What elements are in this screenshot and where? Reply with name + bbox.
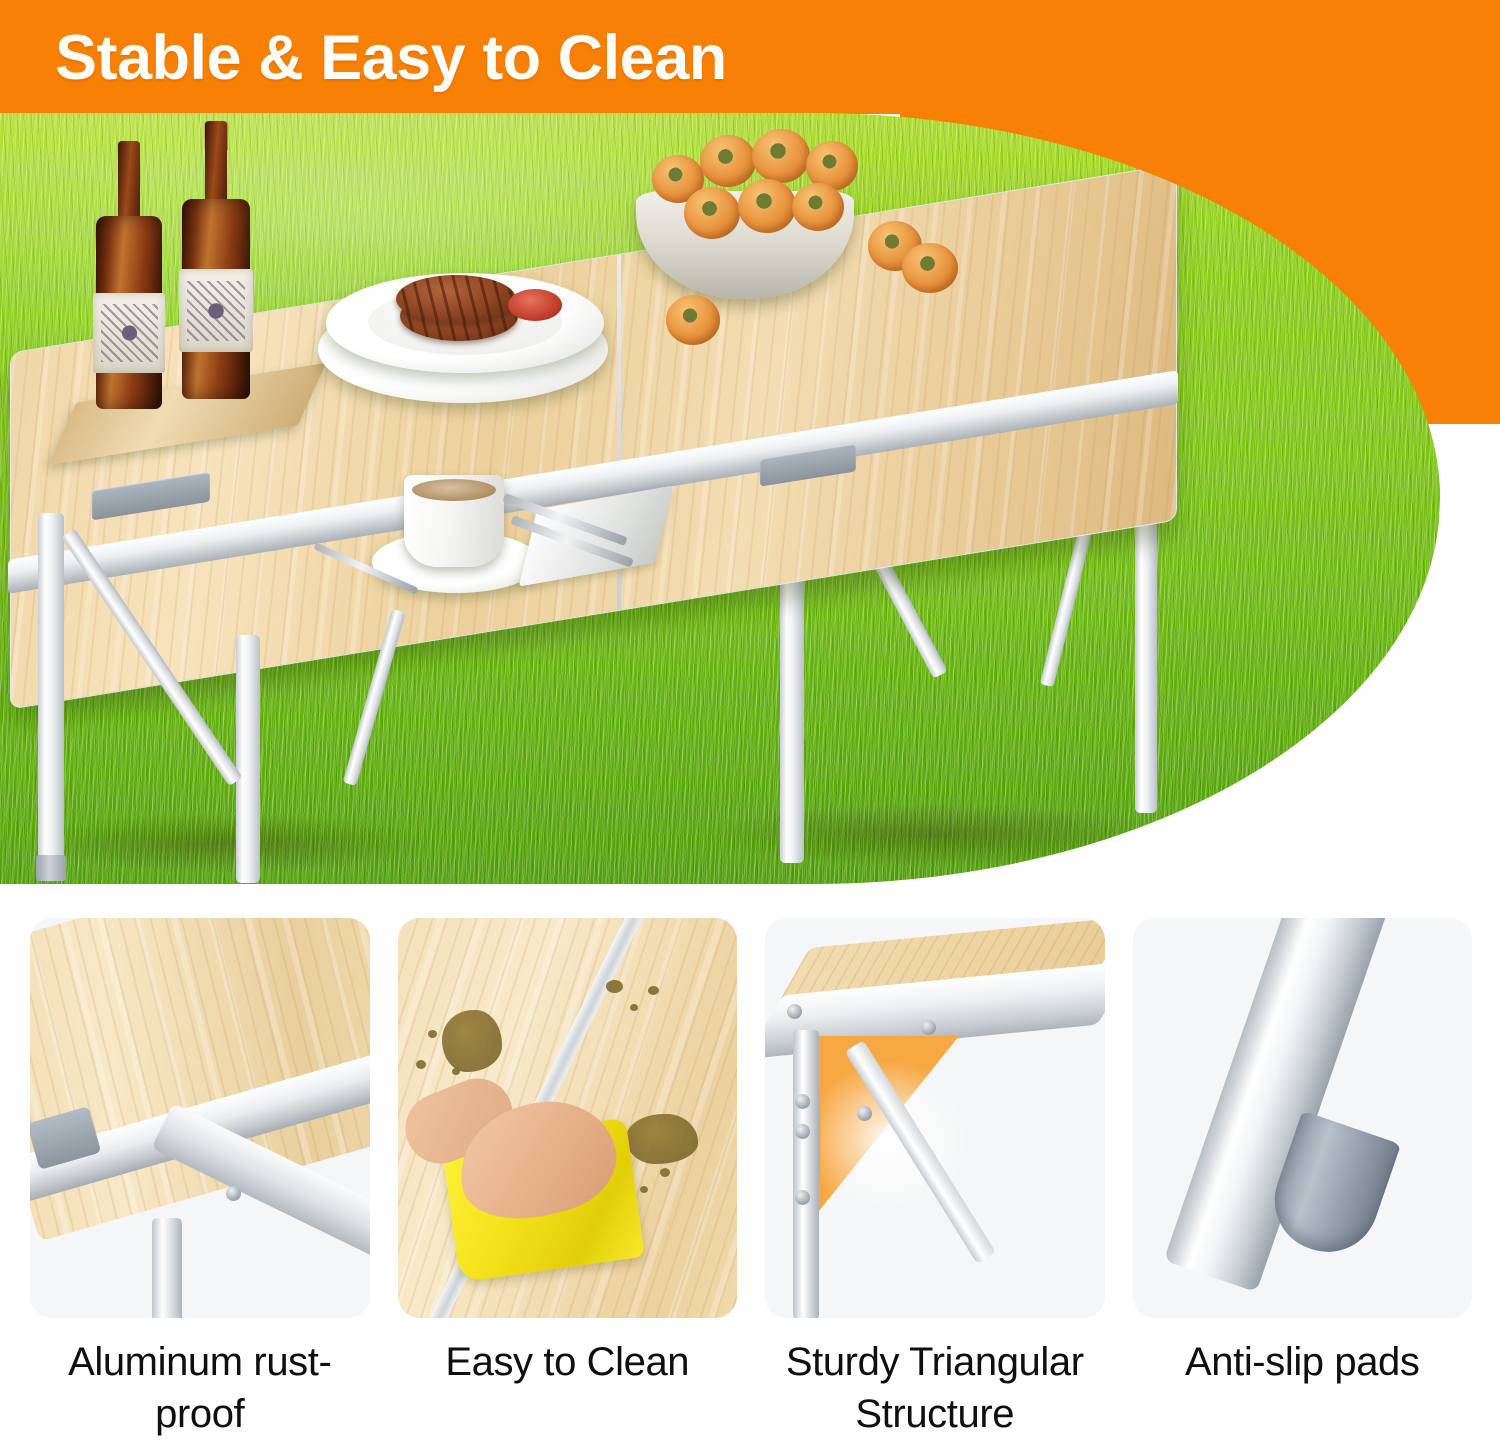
- table-leg-detail: [793, 1030, 819, 1318]
- feature-caption-row: Aluminum rust-proof Easy to Clean Sturdy…: [30, 1336, 1472, 1440]
- table-leg-detail: [152, 1218, 182, 1318]
- persimmon: [792, 183, 844, 231]
- bottle-label: [93, 293, 164, 373]
- spill-droplet: [452, 1068, 460, 1075]
- anti-slip-foot-front-left: [36, 855, 66, 881]
- rivet-icon: [795, 1124, 810, 1139]
- feature-card-easy-to-clean[interactable]: [398, 918, 738, 1318]
- folding-table: [0, 113, 1440, 884]
- persimmon: [738, 179, 796, 233]
- persimmon: [684, 187, 740, 239]
- spill-droplet: [640, 1186, 648, 1193]
- banner-title: Stable & Easy to Clean: [55, 18, 727, 98]
- caption-easy-to-clean: Easy to Clean: [398, 1336, 738, 1440]
- feature-image-sturdy-triangular-structure: [765, 918, 1105, 1318]
- persimmon-loose: [666, 295, 720, 345]
- table-ground-shadow: [700, 803, 1170, 867]
- feature-image-anti-slip-pads: [1133, 918, 1473, 1318]
- persimmon: [752, 129, 810, 183]
- feature-card-anti-slip-pads[interactable]: [1133, 918, 1473, 1318]
- screw-icon: [226, 1186, 241, 1201]
- feature-card-aluminum-rust-proof[interactable]: [30, 918, 370, 1318]
- caption-anti-slip-pads: Anti-slip pads: [1133, 1336, 1473, 1440]
- caption-aluminum-rust-proof: Aluminum rust-proof: [30, 1336, 370, 1440]
- table-ground-shadow: [20, 813, 440, 873]
- burger-patty-top: [396, 275, 516, 323]
- feature-image-easy-to-clean: [398, 918, 738, 1318]
- spill-droplet: [428, 1030, 437, 1038]
- tomato-slice: [508, 289, 562, 321]
- feature-card-sturdy-triangular-structure[interactable]: [765, 918, 1105, 1318]
- hero-product-photo: [0, 113, 1440, 884]
- spill-droplet: [606, 980, 623, 993]
- caption-sturdy-triangular-structure: Sturdy Triangular Structure: [765, 1336, 1105, 1440]
- coffee-cup: [404, 475, 504, 567]
- liquid-spill: [626, 1114, 698, 1164]
- hero-section: Stable & Easy to Clean: [0, 0, 1500, 884]
- persimmon: [700, 135, 756, 187]
- liquid-spill: [442, 1010, 502, 1072]
- rivet-icon: [795, 1190, 810, 1205]
- wine-bottle-right: [182, 121, 250, 399]
- feature-thumbnail-row: [30, 918, 1472, 1318]
- screw-icon: [787, 1004, 802, 1019]
- coffee-liquid: [412, 479, 496, 501]
- persimmon-loose: [902, 243, 958, 293]
- screw-icon: [921, 1020, 936, 1035]
- spill-droplet: [416, 1060, 426, 1069]
- rivet-icon: [857, 1106, 872, 1121]
- wine-bottle-left: [96, 141, 162, 409]
- rivet-icon: [795, 1094, 810, 1109]
- spill-droplet: [630, 1004, 638, 1011]
- bottle-label: [179, 269, 252, 352]
- spill-droplet: [660, 1168, 670, 1177]
- spill-droplet: [648, 986, 659, 995]
- table-leg-front-left: [38, 513, 64, 873]
- table-leg-front-mid: [236, 635, 260, 883]
- feature-image-aluminum-rust-proof: [30, 918, 370, 1318]
